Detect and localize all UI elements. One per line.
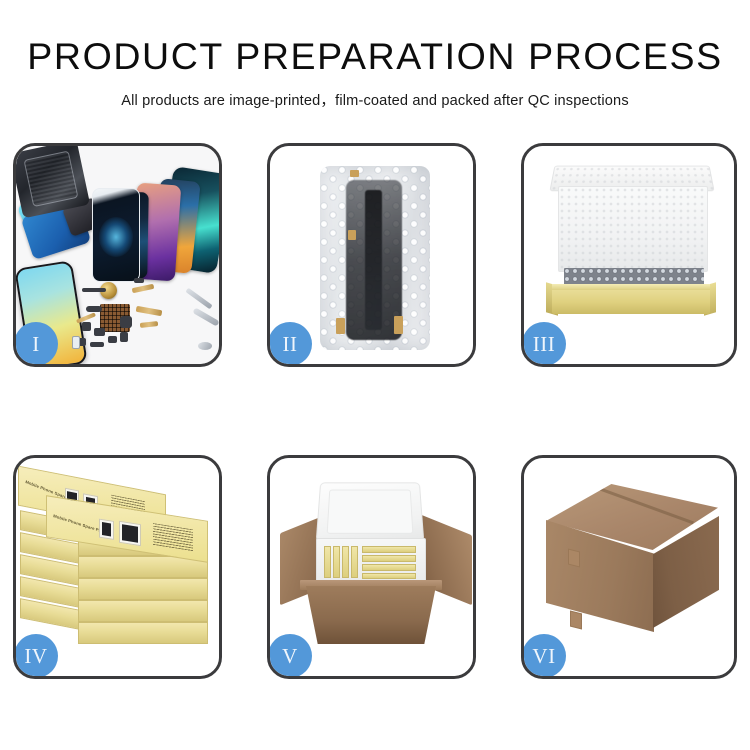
- step-badge-2: II: [268, 322, 312, 366]
- tweezers-tool: [185, 288, 212, 310]
- foam-box-lid: [316, 482, 425, 542]
- stacked-box-front-3: [78, 578, 208, 600]
- step-panel-1[interactable]: I: [13, 143, 222, 367]
- part-chip-3: [108, 336, 117, 343]
- inner-box-flat-4: [362, 573, 416, 579]
- carton-front-face: [306, 586, 436, 644]
- suction-cup-tool: [198, 342, 212, 350]
- step-panel-5[interactable]: V: [267, 455, 476, 679]
- part-strip-2: [86, 306, 102, 312]
- step-panel-6[interactable]: VI: [521, 455, 737, 679]
- box-label-lines-front: [153, 523, 193, 551]
- inner-box-upright-2: [333, 546, 340, 578]
- tape-bottom-right: [394, 316, 403, 334]
- inner-box-upright-1: [324, 546, 331, 578]
- inner-box-flat-1: [362, 546, 416, 553]
- inner-boxes-row: [324, 544, 418, 580]
- screwdriver-tool: [192, 307, 219, 326]
- step-badge-6: VI: [522, 634, 566, 678]
- tape-middle: [348, 230, 356, 240]
- box-label-thumb-front-1: [99, 519, 114, 540]
- tempered-glass-screen: [92, 188, 140, 282]
- part-bracket: [134, 278, 144, 283]
- step-badge-5: V: [268, 634, 312, 678]
- flex-cable-1: [132, 284, 155, 293]
- carton-tape-lower: [570, 611, 582, 630]
- foam-texture-back: [559, 187, 707, 271]
- tape-top: [350, 170, 359, 177]
- flex-cable-2: [136, 306, 163, 316]
- tape-bottom-left: [336, 318, 345, 334]
- part-screen-white: [72, 336, 80, 349]
- part-sim-tray: [90, 342, 104, 347]
- step-panel-2[interactable]: II: [267, 143, 476, 367]
- step-panel-3[interactable]: III: [521, 143, 737, 367]
- page-header: PRODUCT PREPARATION PROCESS All products…: [0, 0, 750, 110]
- step-badge-4: IV: [14, 634, 58, 678]
- part-chip-2: [94, 328, 105, 336]
- step-panel-4[interactable]: Mobile Phone Spare Parts Mobile Phone Sp…: [13, 455, 222, 679]
- carton-tape-upper: [568, 549, 580, 568]
- step-badge-1: I: [14, 322, 58, 366]
- process-step-grid: I II III: [13, 143, 737, 679]
- part-chip-1: [82, 322, 91, 331]
- part-camera-module: [120, 316, 132, 328]
- step-badge-3: III: [522, 322, 566, 366]
- flex-cable-4: [140, 321, 158, 328]
- foam-back-panel: [558, 186, 708, 272]
- box-label-thumb-front-2: [119, 521, 141, 546]
- inner-box-upright-4: [351, 546, 358, 578]
- inner-box-flat-2: [362, 555, 416, 562]
- page-title: PRODUCT PREPARATION PROCESS: [0, 38, 750, 76]
- inner-box-upright-3: [342, 546, 349, 578]
- part-chip-4: [120, 332, 128, 342]
- inner-box-rim: [552, 284, 710, 290]
- inner-box-flat-3: [362, 564, 416, 571]
- inner-box-front: [552, 288, 710, 314]
- stacked-box-front-5: [78, 622, 208, 644]
- stacked-box-front-4: [78, 600, 208, 622]
- page-subtitle: All products are image-printed，film-coat…: [0, 89, 750, 110]
- part-strip-1: [82, 288, 106, 292]
